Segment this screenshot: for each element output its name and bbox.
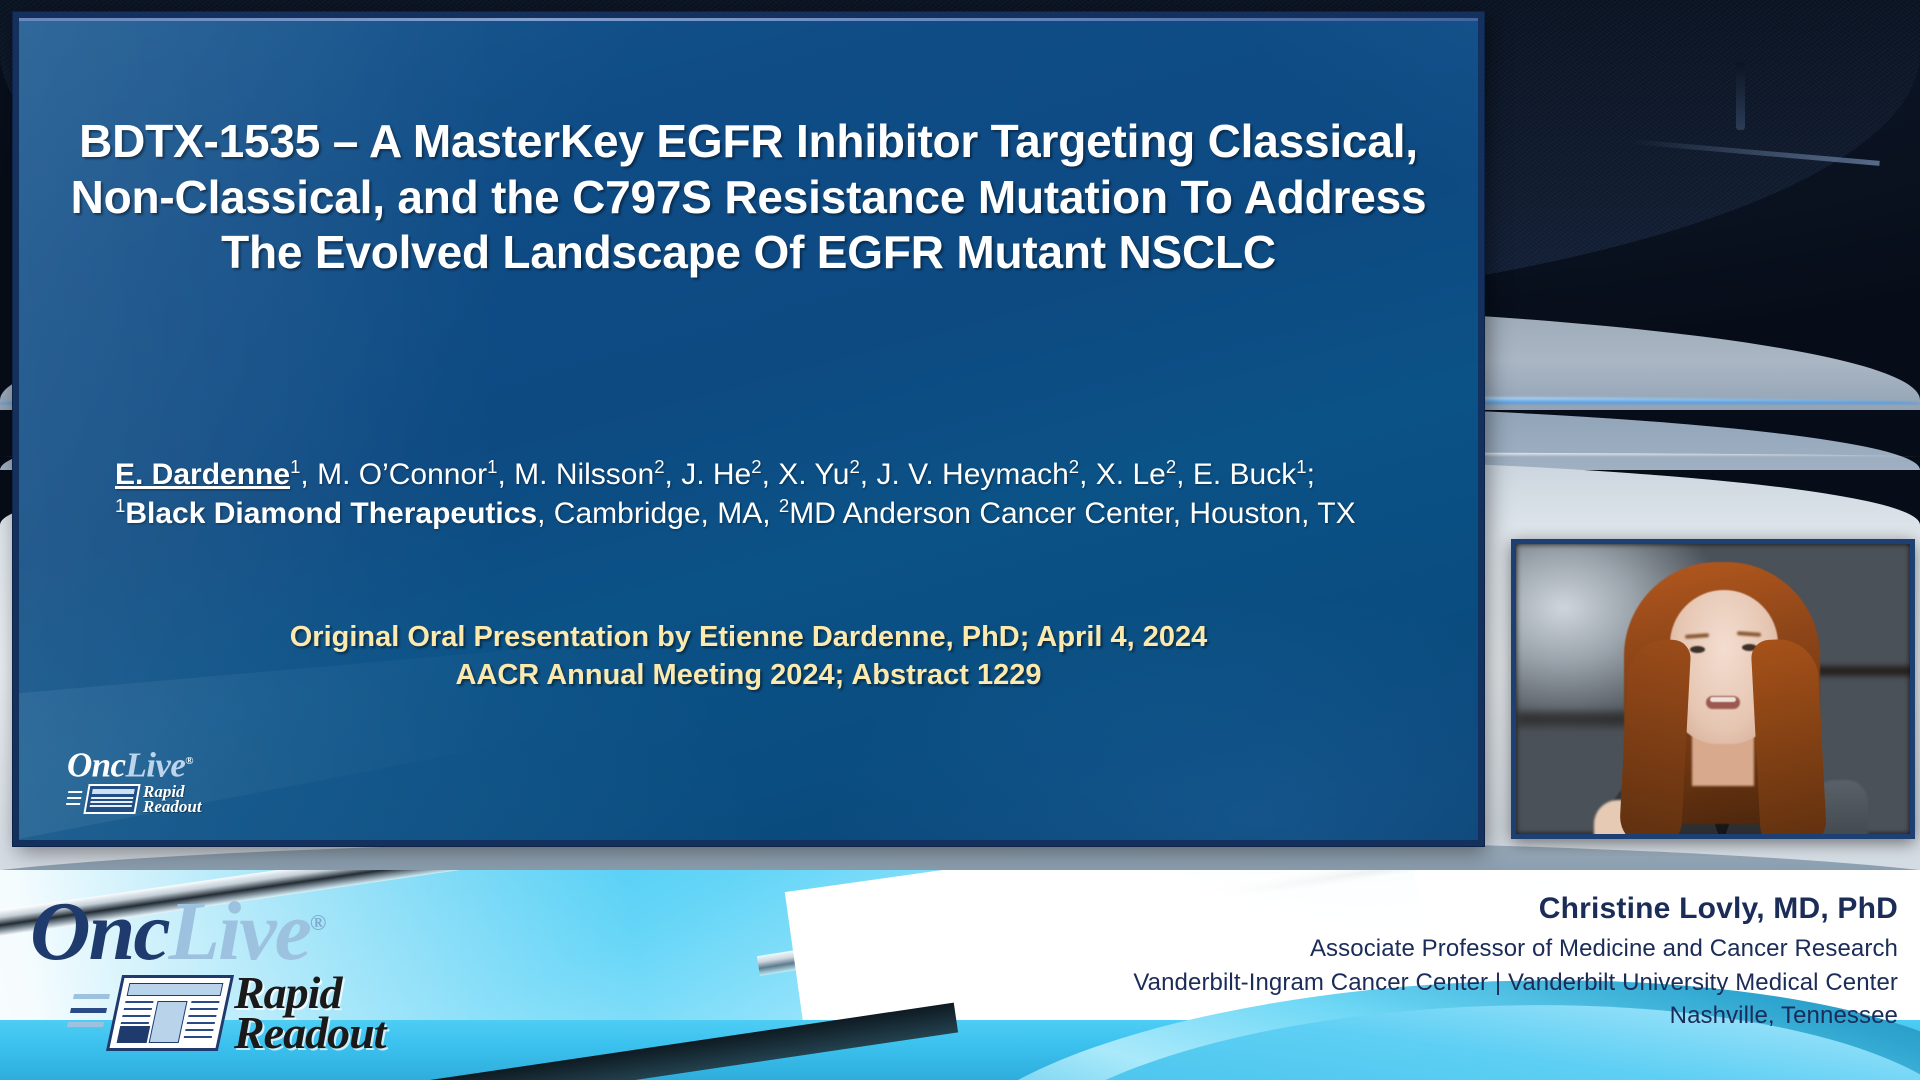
logo-rapid-readout-text: Rapid Readout — [234, 973, 385, 1053]
speaker-teeth — [1710, 697, 1736, 702]
presentation-line-1: Original Oral Presentation by Etienne Da… — [115, 618, 1382, 656]
presentation-slide[interactable]: BDTX-1535 – A MasterKey EGFR Inhibitor T… — [13, 12, 1484, 846]
speaker-info-block: Christine Lovly, MD, PhD Associate Profe… — [1133, 892, 1898, 1033]
speaker-hair-strand-right — [1750, 637, 1827, 839]
slide-presentation-credit: Original Oral Presentation by Etienne Da… — [115, 618, 1382, 695]
ceiling-light-fixture-icon — [1736, 62, 1745, 130]
slide-logo-live-text: Live — [125, 746, 185, 785]
logo-wordmark: OncLive® — [30, 884, 490, 971]
speed-lines-icon — [64, 986, 111, 1040]
slide-logo-rapid-readout-text: Rapid Readout — [143, 784, 202, 814]
newspaper-column-center — [149, 1001, 188, 1043]
newspaper-masthead — [127, 983, 224, 996]
newspaper-block — [117, 1026, 151, 1043]
speaker-hair-strand-left — [1619, 638, 1692, 839]
lower-third-bar: OncLive® Rapid Readout Christine Lovly, … — [0, 870, 1920, 1080]
speaker-name: Christine Lovly, MD, PhD — [1133, 892, 1898, 926]
logo-live-text: Live — [169, 885, 310, 978]
registered-trademark-icon: ® — [310, 910, 324, 935]
speaker-video-feed[interactable] — [1511, 539, 1915, 839]
logo-rapid-readout-row: Rapid Readout — [70, 973, 490, 1053]
newspaper-document-icon — [106, 975, 234, 1051]
onclive-rapid-readout-logo[interactable]: OncLive® Rapid Readout — [30, 884, 490, 1044]
slide-onclive-rapid-readout-logo: OncLive® Rapid Readout — [67, 744, 239, 814]
slide-canvas: BDTX-1535 – A MasterKey EGFR Inhibitor T… — [19, 18, 1478, 840]
speaker-eye-left — [1690, 646, 1705, 653]
slide-top-accent-line — [19, 18, 1478, 21]
slide-logo-onc-text: Onc — [67, 746, 125, 785]
logo-readout-text: Readout — [234, 1013, 385, 1053]
newspaper-column-right — [183, 1001, 220, 1043]
slide-logo-wordmark: OncLive® — [67, 744, 239, 783]
speed-lines-icon — [65, 788, 83, 810]
registered-trademark-icon: ® — [185, 755, 193, 767]
speaker-title: Associate Professor of Medicine and Canc… — [1133, 932, 1898, 966]
logo-onc-text: Onc — [30, 885, 169, 978]
speaker-location: Nashville, Tennessee — [1133, 999, 1898, 1033]
slide-title: BDTX-1535 – A MasterKey EGFR Inhibitor T… — [67, 114, 1430, 281]
slide-logo-rapid-readout-row: Rapid Readout — [67, 784, 239, 814]
slide-logo-readout-text: Readout — [143, 799, 202, 814]
speaker-affiliation: Vanderbilt-Ingram Cancer Center | Vander… — [1133, 966, 1898, 1000]
video-background-shelf-left — [1516, 712, 1634, 726]
newspaper-document-icon — [83, 784, 140, 814]
presentation-line-2: AACR Annual Meeting 2024; Abstract 1229 — [115, 656, 1382, 694]
slide-author-list: E. Dardenne1, M. O’Connor1, M. Nilsson2,… — [115, 455, 1380, 533]
